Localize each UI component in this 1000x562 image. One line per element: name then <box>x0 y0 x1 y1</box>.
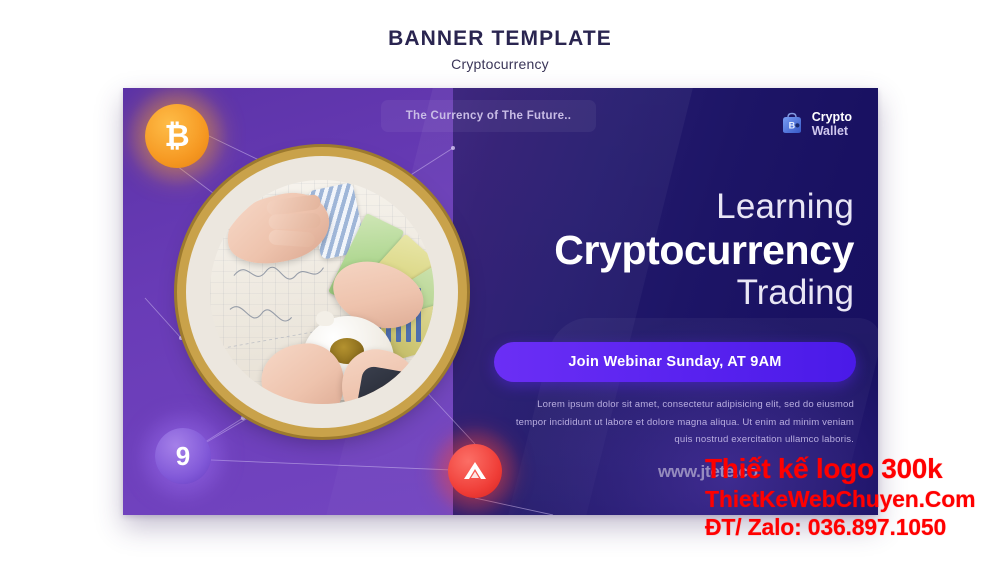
headline-line-3: Trading <box>424 273 854 312</box>
ark-coin[interactable] <box>448 444 502 498</box>
logo-line-2: Wallet <box>812 124 852 138</box>
watermark-line-2: ThietKeWebChuyen.Com <box>705 488 1000 511</box>
join-webinar-button[interactable]: Join Webinar Sunday, AT 9AM <box>494 342 856 382</box>
svg-text:B: B <box>788 120 795 130</box>
watermark-overlay: Thiết kế logo 300k ThietKeWebChuyen.Com … <box>705 455 1000 539</box>
tagline-text: The Currency of The Future.. <box>406 110 572 122</box>
coin-ridge-edge <box>186 156 458 428</box>
purple-coin-glyph: 9 <box>176 441 190 472</box>
brand-logo[interactable]: B Crypto Wallet <box>779 110 852 138</box>
headline-line-2: Cryptocurrency <box>424 228 854 272</box>
banner-artwork: The Currency of The Future.. B Crypto Wa… <box>123 88 878 515</box>
bitcoin-coin-glyph: ₿ <box>164 118 189 154</box>
wallet-icon: B <box>779 111 805 137</box>
watermark-line-3: ĐT/ Zalo: 036.897.1050 <box>705 516 1000 539</box>
page-subtitle: Cryptocurrency <box>0 56 1000 72</box>
body-copy: Lorem ipsum dolor sit amet, consectetur … <box>506 396 854 449</box>
purple-coin[interactable]: 9 <box>155 428 211 484</box>
coin-framed-photo: 20 50 100 <box>186 156 458 428</box>
headline-block: Learning Cryptocurrency Trading <box>424 188 854 312</box>
page-title: BANNER TEMPLATE <box>0 26 1000 52</box>
ark-triangle-icon <box>462 459 488 483</box>
watermark-line-1: Thiết kế logo 300k <box>705 455 1000 483</box>
page-heading: BANNER TEMPLATE Cryptocurrency <box>0 26 1000 72</box>
logo-line-1: Crypto <box>812 110 852 124</box>
tagline-pill: The Currency of The Future.. <box>381 100 596 132</box>
headline-line-1: Learning <box>424 188 854 227</box>
bitcoin-coin[interactable]: ₿ <box>145 104 209 168</box>
